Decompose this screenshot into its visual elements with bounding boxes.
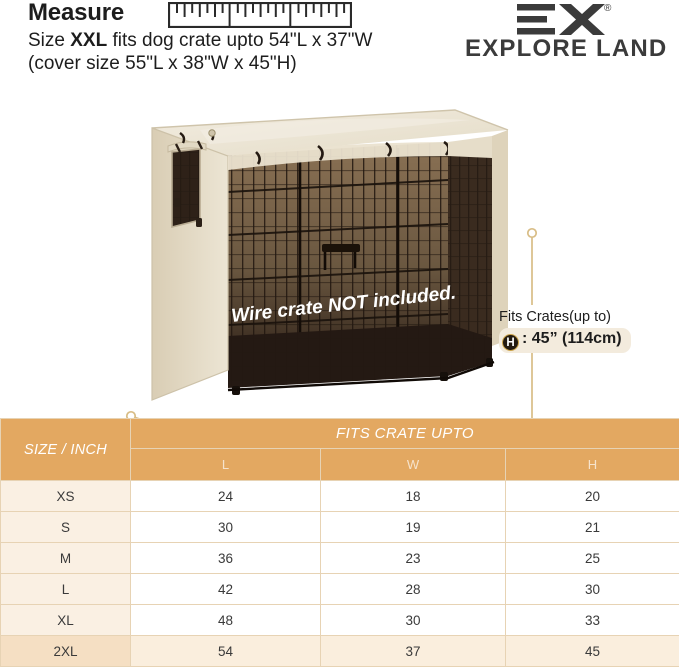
header-l: L xyxy=(131,449,321,481)
size-description-line-1: Size XXL fits dog crate upto 54"L x 37"W xyxy=(28,30,372,52)
cell-size: M xyxy=(1,543,131,574)
ruler-icon xyxy=(168,2,352,28)
header-fits-crate-upto: FITS CRATE UPTO xyxy=(131,419,679,449)
cell-h: 45 xyxy=(506,636,679,667)
registered-trademark-icon: ® xyxy=(604,3,611,14)
cell-l: 24 xyxy=(131,481,321,512)
size-chart-table: SIZE / INCH FITS CRATE UPTO L W H XS2418… xyxy=(0,418,679,667)
brand-wordmark: EXPLORE LAND xyxy=(465,35,667,63)
size-prefix: Size xyxy=(28,30,70,51)
table-row: M362325 xyxy=(1,543,679,574)
header-w: W xyxy=(321,449,506,481)
header-h: H xyxy=(506,449,679,481)
cell-l: 54 xyxy=(131,636,321,667)
cell-size: L xyxy=(1,574,131,605)
callout-height-title: Fits Crates(up to) xyxy=(499,309,631,326)
table-row: S301921 xyxy=(1,512,679,543)
page-title: Measure xyxy=(28,0,124,27)
ex-monogram-icon xyxy=(517,2,609,36)
cell-w: 23 xyxy=(321,543,506,574)
cell-w: 28 xyxy=(321,574,506,605)
table-row: XS241820 xyxy=(1,481,679,512)
cell-h: 21 xyxy=(506,512,679,543)
wire-crate xyxy=(228,142,494,395)
table-row: L422830 xyxy=(1,574,679,605)
cover-size-line: (cover size 55"L x 38"W x 45"H) xyxy=(28,53,297,75)
cell-l: 48 xyxy=(131,605,321,636)
brand-logo: ® EXPLORE LAND xyxy=(465,2,665,64)
cell-l: 36 xyxy=(131,543,321,574)
callout-height: Fits Crates(up to) H: 45” (114cm) xyxy=(499,309,631,353)
covered-dog-crate-illustration: Wire crate NOT included. xyxy=(0,100,679,418)
callout-height-measure: : 45” (114cm) xyxy=(522,330,622,347)
table-header-row-group: SIZE / INCH FITS CRATE UPTO xyxy=(1,419,679,449)
header: Measure xyxy=(0,0,679,100)
cell-size: S xyxy=(1,512,131,543)
callout-height-value: H: 45” (114cm) xyxy=(499,328,631,353)
cell-w: 37 xyxy=(321,636,506,667)
badge-h-icon: H xyxy=(502,334,519,351)
cell-h: 25 xyxy=(506,543,679,574)
cell-size: 2XL xyxy=(1,636,131,667)
cell-w: 18 xyxy=(321,481,506,512)
cell-w: 19 xyxy=(321,512,506,543)
size-suffix: fits dog crate upto 54"L x 37"W xyxy=(107,30,372,51)
cell-h: 30 xyxy=(506,574,679,605)
cell-l: 30 xyxy=(131,512,321,543)
cell-l: 42 xyxy=(131,574,321,605)
cell-h: 33 xyxy=(506,605,679,636)
table-row: XL483033 xyxy=(1,605,679,636)
cell-w: 30 xyxy=(321,605,506,636)
product-image: Wire crate NOT included. Fits Crates(up … xyxy=(0,100,679,418)
size-code: XXL xyxy=(70,30,107,51)
cell-size: XL xyxy=(1,605,131,636)
cell-size: XS xyxy=(1,481,131,512)
header-size-inch: SIZE / INCH xyxy=(1,419,131,481)
cell-h: 20 xyxy=(506,481,679,512)
table-row: 2XL543745 xyxy=(1,636,679,667)
